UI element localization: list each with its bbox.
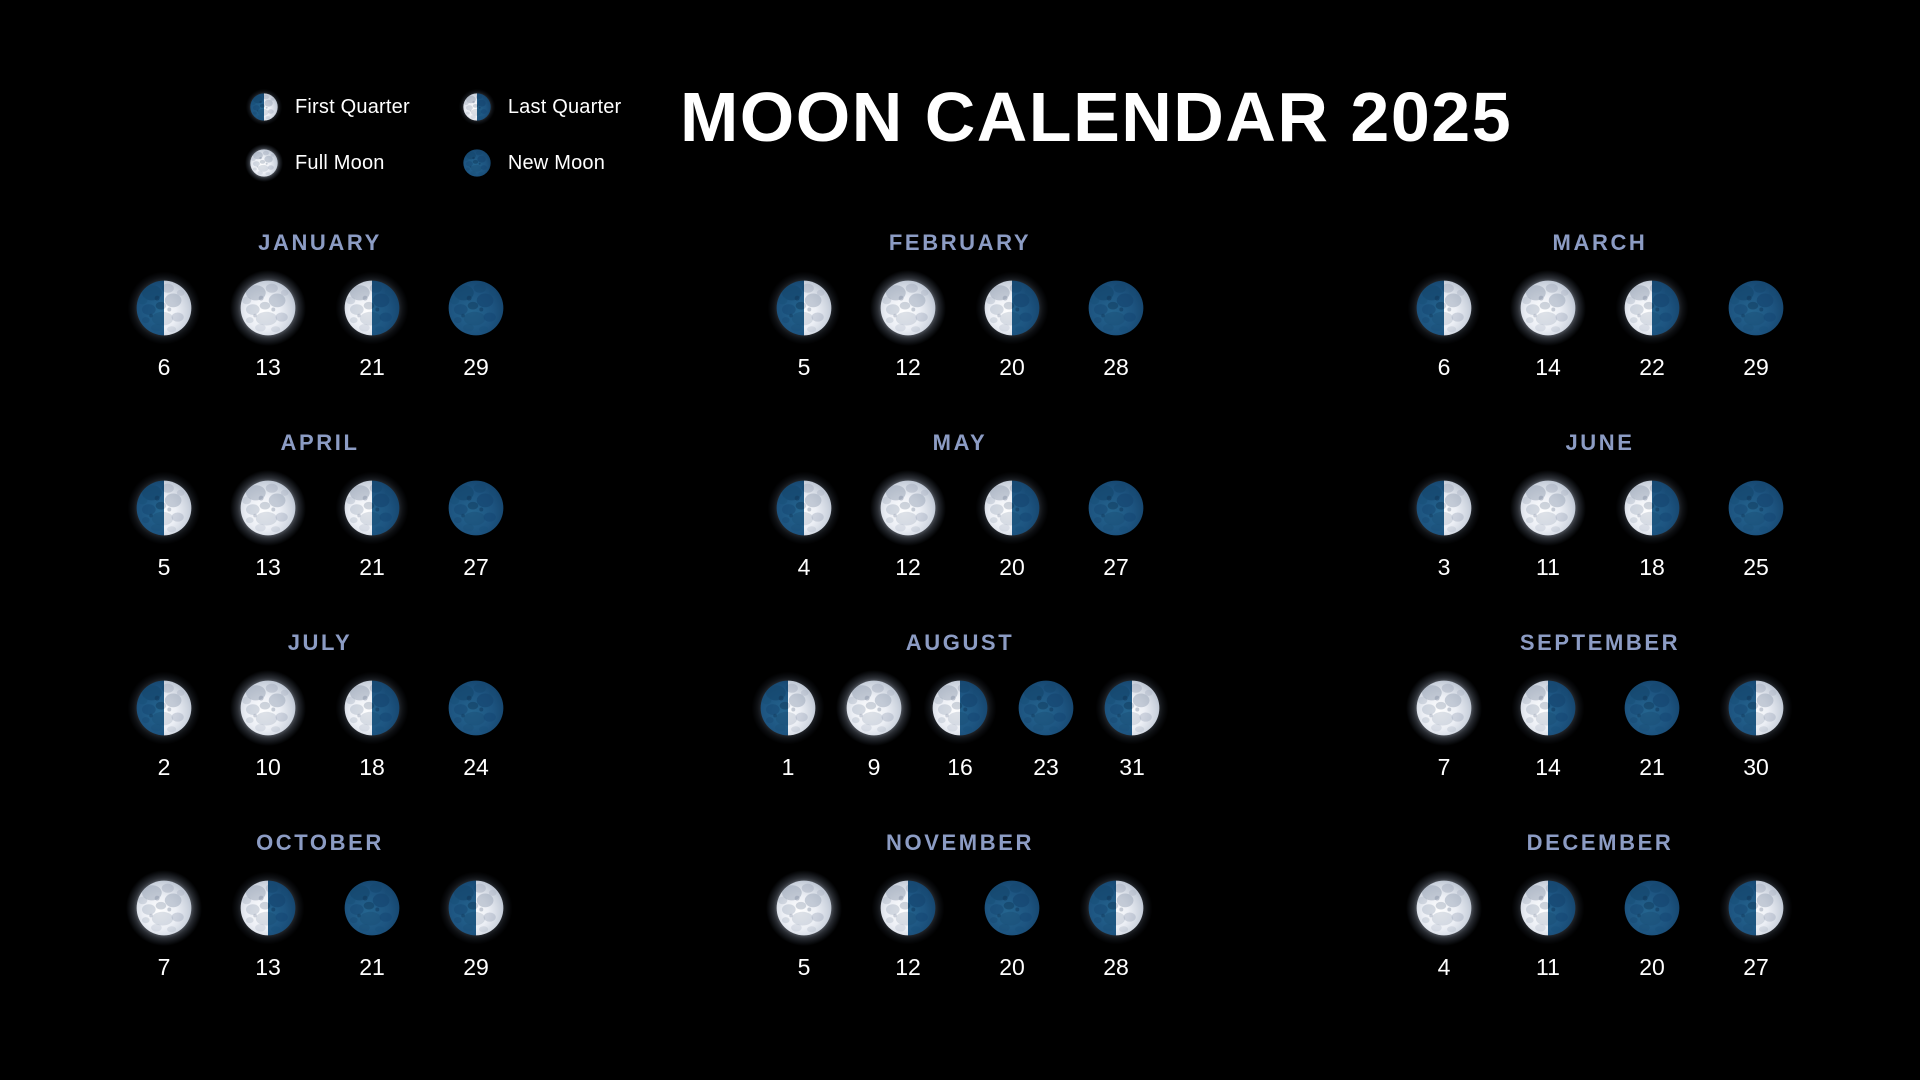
phase-date: 25 — [1743, 556, 1769, 579]
phase-cell[interactable]: 12 — [870, 870, 946, 979]
month-name: DECEMBER — [1527, 830, 1674, 856]
phase-cell[interactable]: 27 — [1718, 870, 1794, 979]
phase-date: 29 — [463, 356, 489, 379]
legend-item-label: Full Moon — [295, 152, 385, 175]
moon-full-moon-icon — [1406, 870, 1482, 946]
moon-last-quarter-icon — [458, 88, 496, 126]
moon-phase-full-moon-icon — [870, 470, 946, 546]
moon-phase-full-moon-icon — [870, 270, 946, 346]
phase-date: 31 — [1119, 756, 1145, 779]
phase-date: 14 — [1535, 756, 1561, 779]
phase-cell[interactable]: 1 — [750, 670, 826, 779]
moon-phase-new-moon-icon — [1078, 270, 1154, 346]
moon-phase-last-quarter-icon — [974, 470, 1050, 546]
phase-cell[interactable]: 21 — [334, 470, 410, 579]
moon-phase-new-moon-icon — [974, 870, 1050, 946]
month-block-december: DECEMBER4112027 — [1280, 830, 1920, 1030]
moon-phase-first-quarter-icon — [126, 270, 202, 346]
moon-full-moon-icon — [870, 270, 946, 346]
month-block-april: APRIL5132127 — [0, 430, 640, 630]
phase-cell[interactable]: 28 — [1078, 870, 1154, 979]
moon-phase-first-quarter-icon — [1406, 270, 1482, 346]
phase-date: 11 — [1536, 956, 1560, 979]
moon-new-moon-icon — [1078, 270, 1154, 346]
phase-cell[interactable]: 29 — [1718, 270, 1794, 379]
phase-cell[interactable]: 13 — [230, 870, 306, 979]
phase-date: 12 — [895, 356, 921, 379]
phase-date: 4 — [1438, 956, 1451, 979]
moon-new-moon-icon — [334, 870, 410, 946]
phase-cell[interactable]: 24 — [438, 670, 514, 779]
phase-cell[interactable]: 18 — [1614, 470, 1690, 579]
moon-phase-full-moon-icon — [1406, 870, 1482, 946]
phase-date: 29 — [463, 956, 489, 979]
phase-row: 6132129 — [126, 270, 514, 379]
phase-date: 20 — [999, 356, 1025, 379]
month-name: SEPTEMBER — [1520, 630, 1680, 656]
moon-phase-last-quarter-icon — [974, 270, 1050, 346]
moon-phase-full-moon-icon — [1406, 670, 1482, 746]
phase-row: 2101824 — [126, 670, 514, 779]
moon-phase-first-quarter-icon — [766, 470, 842, 546]
moon-phase-last-quarter-icon — [870, 870, 946, 946]
phase-date: 6 — [1438, 356, 1451, 379]
phase-cell[interactable]: 28 — [1078, 270, 1154, 379]
moon-phase-last-quarter-icon — [1614, 470, 1690, 546]
phase-cell[interactable]: 20 — [974, 270, 1050, 379]
phase-row: 5132127 — [126, 470, 514, 579]
month-name: FEBRUARY — [889, 230, 1031, 256]
phase-cell[interactable]: 5 — [126, 470, 202, 579]
moon-first-quarter-icon — [750, 670, 826, 746]
moon-first-quarter-icon — [1406, 470, 1482, 546]
moon-phase-full-moon-icon — [230, 470, 306, 546]
moon-first-quarter-icon — [766, 470, 842, 546]
phase-cell[interactable]: 7 — [126, 870, 202, 979]
phase-row: 4112027 — [1406, 870, 1794, 979]
moon-phase-first-quarter-icon — [438, 870, 514, 946]
moon-first-quarter-icon — [126, 270, 202, 346]
phase-date: 12 — [895, 956, 921, 979]
phase-date: 27 — [1743, 956, 1769, 979]
moon-phase-full-moon-icon — [1510, 270, 1586, 346]
phase-cell[interactable]: 27 — [438, 470, 514, 579]
moon-full-moon-icon — [1510, 270, 1586, 346]
phase-date: 7 — [158, 956, 171, 979]
phase-date: 13 — [255, 556, 281, 579]
phase-date: 1 — [782, 756, 795, 779]
moon-phase-last-quarter-icon — [334, 670, 410, 746]
month-name: JULY — [288, 630, 353, 656]
phase-row: 7132129 — [126, 870, 514, 979]
phase-date: 14 — [1535, 356, 1561, 379]
legend-item-new-moon: New Moon — [458, 144, 622, 182]
month-name: APRIL — [281, 430, 360, 456]
moon-phase-first-quarter-icon — [126, 470, 202, 546]
phase-date: 5 — [798, 356, 811, 379]
moon-full-moon-icon — [230, 270, 306, 346]
moon-phase-new-moon-icon — [1614, 670, 1690, 746]
moon-last-quarter-icon — [334, 670, 410, 746]
phase-date: 29 — [1743, 356, 1769, 379]
moon-phase-first-quarter-icon — [750, 670, 826, 746]
phase-cell[interactable]: 11 — [1510, 470, 1586, 579]
moon-first-quarter-icon — [1718, 670, 1794, 746]
phase-cell[interactable]: 4 — [766, 470, 842, 579]
phase-date: 28 — [1103, 356, 1129, 379]
legend-item-label: First Quarter — [295, 96, 410, 119]
moon-first-quarter-icon — [1094, 670, 1170, 746]
phase-cell[interactable]: 29 — [438, 870, 514, 979]
phase-cell[interactable]: 22 — [1614, 270, 1690, 379]
phase-date: 23 — [1033, 756, 1059, 779]
moon-full-moon-icon — [836, 670, 912, 746]
phase-date: 30 — [1743, 756, 1769, 779]
phase-date: 2 — [158, 756, 171, 779]
month-name: AUGUST — [906, 630, 1015, 656]
moon-phase-first-quarter-icon — [126, 670, 202, 746]
moon-phase-new-moon-icon — [1614, 870, 1690, 946]
moon-full-moon-icon — [1510, 470, 1586, 546]
phase-cell[interactable]: 13 — [230, 270, 306, 379]
phase-cell[interactable]: 21 — [334, 870, 410, 979]
moon-phase-last-quarter-icon — [1510, 870, 1586, 946]
phase-cell[interactable]: 20 — [974, 470, 1050, 579]
moon-new-moon-icon — [1718, 270, 1794, 346]
moon-phase-full-moon-icon — [126, 870, 202, 946]
phase-row: 4122027 — [766, 470, 1154, 579]
phase-cell[interactable]: 25 — [1718, 470, 1794, 579]
legend-item-label: New Moon — [508, 152, 605, 175]
phase-date: 12 — [895, 556, 921, 579]
month-block-july: JULY2101824 — [0, 630, 640, 830]
phase-date: 27 — [463, 556, 489, 579]
moon-first-quarter-icon — [126, 670, 202, 746]
phase-date: 5 — [798, 956, 811, 979]
moon-new-moon-icon — [1614, 670, 1690, 746]
phase-cell[interactable]: 10 — [230, 670, 306, 779]
page-header: First QuarterLast QuarterFull MoonNew Mo… — [0, 0, 1920, 200]
moon-new-moon-icon — [438, 670, 514, 746]
moon-phase-last-quarter-icon — [922, 670, 998, 746]
phase-date: 9 — [868, 756, 881, 779]
moon-new-moon-icon — [1718, 470, 1794, 546]
moon-phase-first-quarter-icon — [1094, 670, 1170, 746]
phase-cell[interactable]: 14 — [1510, 670, 1586, 779]
moon-first-quarter-icon — [438, 870, 514, 946]
moon-last-quarter-icon — [1614, 270, 1690, 346]
moon-phase-first-quarter-icon — [1406, 470, 1482, 546]
moon-phase-last-quarter-icon — [334, 270, 410, 346]
moon-first-quarter-icon — [126, 470, 202, 546]
calendar-grid: JANUARY6132129FEBRUARY5122028MARCH614222… — [0, 230, 1920, 1030]
month-block-march: MARCH6142229 — [1280, 230, 1920, 430]
phase-date: 5 — [158, 556, 171, 579]
phase-cell[interactable]: 11 — [1510, 870, 1586, 979]
moon-phase-first-quarter-icon — [1718, 870, 1794, 946]
phase-cell[interactable]: 31 — [1094, 670, 1170, 779]
moon-phase-first-quarter-icon — [1718, 670, 1794, 746]
moon-first-quarter-icon — [245, 88, 283, 126]
phase-cell[interactable]: 5 — [766, 270, 842, 379]
moon-calendar-page: First QuarterLast QuarterFull MoonNew Mo… — [0, 0, 1920, 1080]
moon-phase-first-quarter-icon — [1078, 870, 1154, 946]
phase-cell[interactable]: 18 — [334, 670, 410, 779]
phase-date: 7 — [1438, 756, 1451, 779]
moon-full-moon-icon — [126, 870, 202, 946]
moon-full-moon-icon — [870, 470, 946, 546]
phase-date: 22 — [1639, 356, 1665, 379]
moon-last-quarter-icon — [1614, 470, 1690, 546]
moon-phase-full-moon-icon — [230, 670, 306, 746]
phase-date: 21 — [359, 356, 385, 379]
phase-date: 28 — [1103, 956, 1129, 979]
month-block-june: JUNE3111825 — [1280, 430, 1920, 630]
phase-date: 13 — [255, 956, 281, 979]
moon-phase-full-moon-icon — [1510, 470, 1586, 546]
phase-cell[interactable]: 5 — [766, 870, 842, 979]
legend-item-full-moon: Full Moon — [245, 144, 410, 182]
moon-last-quarter-icon — [334, 270, 410, 346]
moon-phase-first-quarter-icon — [766, 270, 842, 346]
phase-date: 21 — [359, 956, 385, 979]
page-title: MOON CALENDAR 2025 — [680, 82, 1512, 152]
moon-first-quarter-icon — [766, 270, 842, 346]
legend-last-quarter-icon — [458, 88, 496, 126]
month-block-august: AUGUST19162331 — [640, 630, 1280, 830]
phase-date: 20 — [999, 556, 1025, 579]
moon-phase-new-moon-icon — [1718, 270, 1794, 346]
phase-date: 21 — [1639, 756, 1665, 779]
moon-new-moon-icon — [1078, 470, 1154, 546]
month-name: NOVEMBER — [886, 830, 1034, 856]
legend-item-first-quarter: First Quarter — [245, 88, 410, 126]
moon-full-moon-icon — [1406, 670, 1482, 746]
phase-date: 16 — [947, 756, 973, 779]
moon-full-moon-icon — [230, 470, 306, 546]
month-name: JANUARY — [258, 230, 382, 256]
moon-phase-last-quarter-icon — [1614, 270, 1690, 346]
phase-date: 18 — [359, 756, 385, 779]
legend-item-last-quarter: Last Quarter — [458, 88, 622, 126]
moon-phase-last-quarter-icon — [230, 870, 306, 946]
phase-row: 6142229 — [1406, 270, 1794, 379]
phase-cell[interactable]: 29 — [438, 270, 514, 379]
phase-cell[interactable]: 27 — [1078, 470, 1154, 579]
moon-full-moon-icon — [230, 670, 306, 746]
phase-row: 5122028 — [766, 270, 1154, 379]
phase-date: 20 — [999, 956, 1025, 979]
phase-cell[interactable]: 21 — [1614, 670, 1690, 779]
moon-last-quarter-icon — [1510, 670, 1586, 746]
moon-phase-full-moon-icon — [766, 870, 842, 946]
phase-date: 27 — [1103, 556, 1129, 579]
moon-new-moon-icon — [438, 470, 514, 546]
legend-full-moon-icon — [245, 144, 283, 182]
moon-last-quarter-icon — [974, 470, 1050, 546]
phase-date: 4 — [798, 556, 811, 579]
phase-cell[interactable]: 14 — [1510, 270, 1586, 379]
month-block-october: OCTOBER7132129 — [0, 830, 640, 1030]
month-name: MAY — [933, 430, 988, 456]
phase-cell[interactable]: 6 — [126, 270, 202, 379]
phase-cell[interactable]: 13 — [230, 470, 306, 579]
moon-phase-new-moon-icon — [1718, 470, 1794, 546]
month-name: OCTOBER — [256, 830, 384, 856]
moon-last-quarter-icon — [1510, 870, 1586, 946]
moon-phase-full-moon-icon — [836, 670, 912, 746]
phase-legend: First QuarterLast QuarterFull MoonNew Mo… — [245, 88, 621, 182]
phase-row: 3111825 — [1406, 470, 1794, 579]
moon-last-quarter-icon — [870, 870, 946, 946]
moon-phase-last-quarter-icon — [334, 470, 410, 546]
phase-date: 11 — [1536, 556, 1560, 579]
moon-phase-new-moon-icon — [1078, 470, 1154, 546]
moon-phase-full-moon-icon — [230, 270, 306, 346]
phase-date: 21 — [359, 556, 385, 579]
phase-date: 24 — [463, 756, 489, 779]
moon-new-moon-icon — [458, 144, 496, 182]
month-name: JUNE — [1565, 430, 1634, 456]
phase-row: 5122028 — [766, 870, 1154, 979]
month-block-september: SEPTEMBER7142130 — [1280, 630, 1920, 830]
moon-last-quarter-icon — [974, 270, 1050, 346]
phase-cell[interactable]: 3 — [1406, 470, 1482, 579]
moon-full-moon-icon — [245, 144, 283, 182]
moon-phase-new-moon-icon — [438, 470, 514, 546]
moon-new-moon-icon — [438, 270, 514, 346]
legend-new-moon-icon — [458, 144, 496, 182]
phase-date: 3 — [1438, 556, 1451, 579]
phase-cell[interactable]: 23 — [1008, 670, 1084, 779]
moon-last-quarter-icon — [922, 670, 998, 746]
phase-cell[interactable]: 30 — [1718, 670, 1794, 779]
phase-date: 20 — [1639, 956, 1665, 979]
phase-cell[interactable]: 21 — [334, 270, 410, 379]
phase-cell[interactable]: 9 — [836, 670, 912, 779]
phase-cell[interactable]: 20 — [974, 870, 1050, 979]
phase-date: 18 — [1639, 556, 1665, 579]
phase-cell[interactable]: 2 — [126, 670, 202, 779]
moon-full-moon-icon — [766, 870, 842, 946]
phase-cell[interactable]: 12 — [870, 270, 946, 379]
phase-cell[interactable]: 20 — [1614, 870, 1690, 979]
moon-first-quarter-icon — [1718, 870, 1794, 946]
month-name: MARCH — [1553, 230, 1648, 256]
month-block-may: MAY4122027 — [640, 430, 1280, 630]
legend-item-label: Last Quarter — [508, 96, 622, 119]
phase-date: 6 — [158, 356, 171, 379]
moon-last-quarter-icon — [334, 470, 410, 546]
month-block-november: NOVEMBER5122028 — [640, 830, 1280, 1030]
moon-last-quarter-icon — [230, 870, 306, 946]
phase-date: 13 — [255, 356, 281, 379]
moon-phase-last-quarter-icon — [1510, 670, 1586, 746]
moon-phase-new-moon-icon — [1008, 670, 1084, 746]
moon-phase-new-moon-icon — [334, 870, 410, 946]
legend-first-quarter-icon — [245, 88, 283, 126]
phase-cell[interactable]: 4 — [1406, 870, 1482, 979]
moon-new-moon-icon — [1614, 870, 1690, 946]
phase-row: 7142130 — [1406, 670, 1794, 779]
phase-cell[interactable]: 7 — [1406, 670, 1482, 779]
phase-date: 10 — [255, 756, 281, 779]
moon-new-moon-icon — [1008, 670, 1084, 746]
moon-phase-new-moon-icon — [438, 670, 514, 746]
month-block-january: JANUARY6132129 — [0, 230, 640, 430]
moon-first-quarter-icon — [1406, 270, 1482, 346]
phase-cell[interactable]: 16 — [922, 670, 998, 779]
phase-row: 19162331 — [750, 670, 1170, 779]
phase-cell[interactable]: 6 — [1406, 270, 1482, 379]
moon-first-quarter-icon — [1078, 870, 1154, 946]
month-block-february: FEBRUARY5122028 — [640, 230, 1280, 430]
phase-cell[interactable]: 12 — [870, 470, 946, 579]
moon-phase-new-moon-icon — [438, 270, 514, 346]
moon-new-moon-icon — [974, 870, 1050, 946]
